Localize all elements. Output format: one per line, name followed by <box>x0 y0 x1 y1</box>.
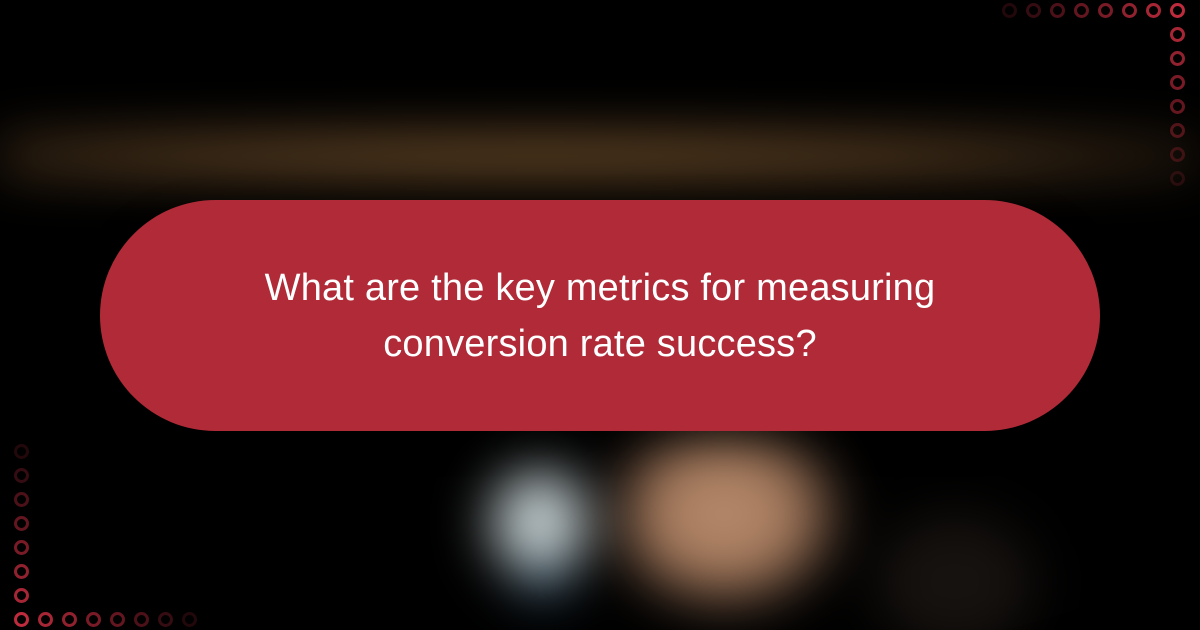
question-text: What are the key metrics for measuring c… <box>205 260 995 372</box>
question-card-graphic: What are the key metrics for measuring c… <box>0 0 1200 630</box>
question-card: What are the key metrics for measuring c… <box>100 200 1100 431</box>
